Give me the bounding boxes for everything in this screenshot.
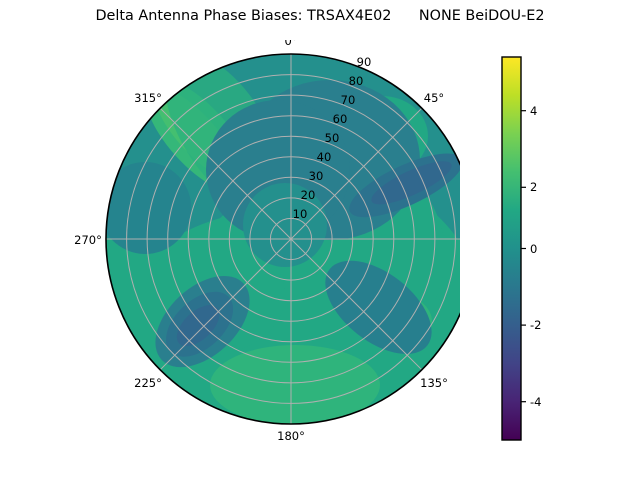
colorbar: 4 2 0 -2 -4 Bias (mm) [495,45,625,445]
theta-label-225: 225° [134,376,162,390]
colorbar-tick-neg4: -4 [530,395,541,409]
colorbar-tick-neg2: -2 [530,318,541,332]
colorbar-tick-0: 0 [530,242,537,256]
polar-plot-svg: 0° 45° 90° 135° 180° 225° 270° 315° 10 2… [30,40,460,440]
r-label-40: 40 [317,150,332,164]
theta-label-45: 45° [424,91,444,105]
colorbar-tick-4: 4 [530,104,537,118]
colorbar-tick-labels: 4 2 0 -2 -4 [530,104,541,409]
theta-label-270: 270° [74,233,102,247]
colorbar-tick-2: 2 [530,180,537,194]
theta-label-180: 180° [277,429,305,440]
page-title: Delta Antenna Phase Biases: TRSAX4E02 NO… [0,8,640,25]
theta-label-315: 315° [134,91,162,105]
colorbar-svg: 4 2 0 -2 -4 [495,45,625,445]
r-label-70: 70 [341,93,356,107]
colorbar-ticks [521,111,526,402]
r-label-50: 50 [325,131,340,145]
polar-axes: 0° 45° 90° 135° 180° 225° 270° 315° 10 2… [30,40,460,440]
figure-canvas: Delta Antenna Phase Biases: TRSAX4E02 NO… [0,0,640,480]
r-label-80: 80 [349,74,364,88]
theta-label-0: 0° [284,40,297,48]
colorbar-gradient [502,57,521,440]
theta-label-135: 135° [420,376,448,390]
r-label-10: 10 [293,207,308,221]
r-label-20: 20 [301,188,316,202]
r-label-30: 30 [309,169,324,183]
r-label-60: 60 [333,112,348,126]
r-label-90: 90 [357,55,372,69]
